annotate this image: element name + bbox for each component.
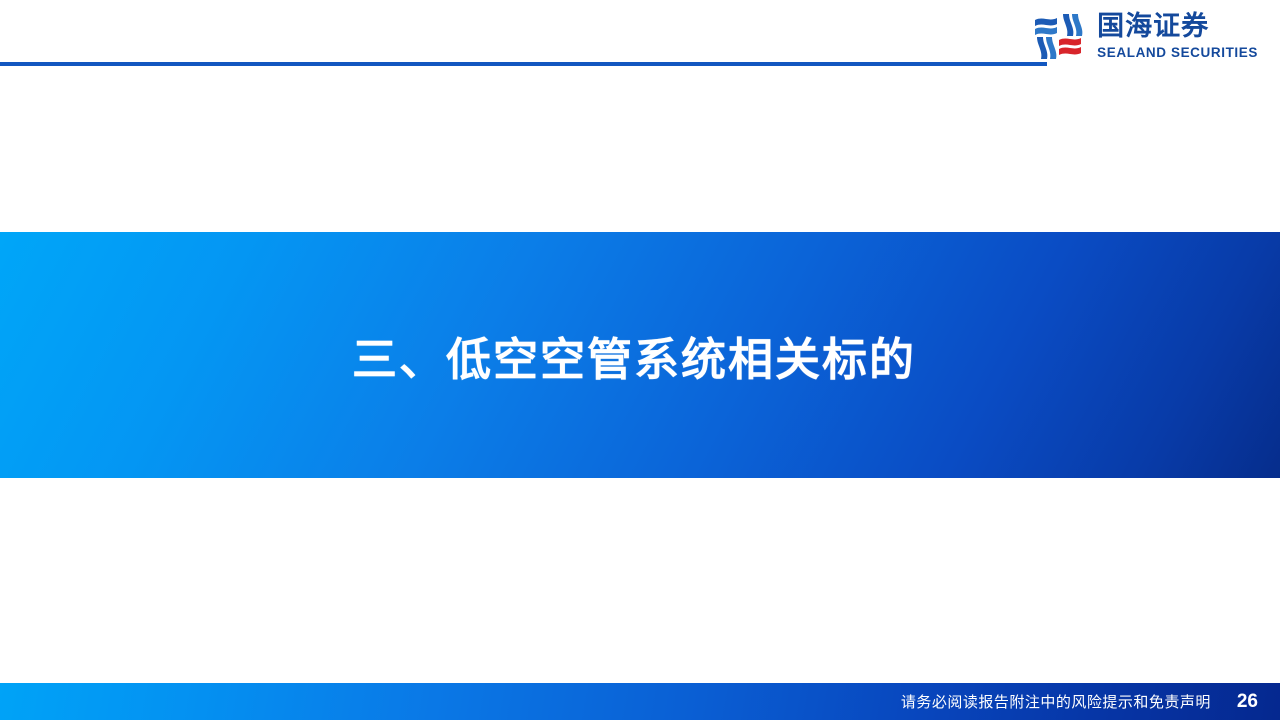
- logo-company-name-cn: 国海证券: [1097, 13, 1258, 40]
- footer-disclaimer-text: 请务必阅读报告附注中的风险提示和免责声明: [901, 691, 1211, 712]
- company-logo: 国海证券 SEALAND SECURITIES: [1031, 10, 1258, 62]
- sealand-wave-mark-icon: [1031, 10, 1087, 62]
- logo-wordmark: 国海证券 SEALAND SECURITIES: [1097, 13, 1258, 60]
- slide-page-number: 26: [1237, 691, 1258, 713]
- section-title-banner: 三、低空空管系统相关标的: [0, 232, 1280, 478]
- header-divider-rule: [0, 62, 1047, 66]
- section-title-text: 三、低空空管系统相关标的: [352, 323, 916, 388]
- logo-company-name-en: SEALAND SECURITIES: [1097, 46, 1258, 60]
- slide-footer-bar: 请务必阅读报告附注中的风险提示和免责声明 26: [0, 683, 1280, 720]
